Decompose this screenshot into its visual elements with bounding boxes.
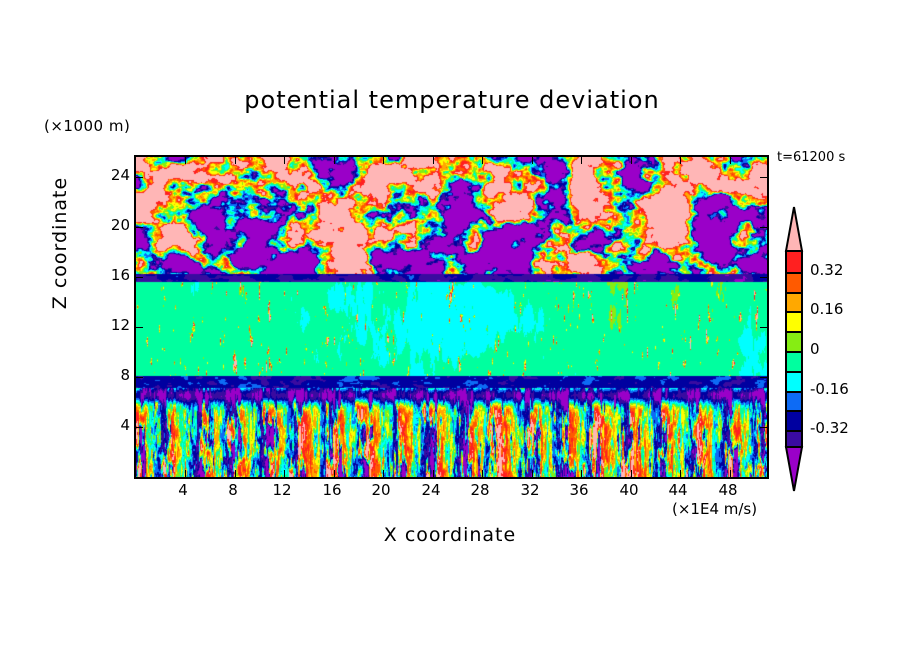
heatmap-plot-area xyxy=(134,155,769,479)
y-tick-label: 8 xyxy=(120,366,130,384)
x-tick-mark xyxy=(235,470,236,477)
x-tick-labels: 4812162024283236404448 xyxy=(134,481,765,501)
colorbar xyxy=(782,206,806,492)
colorbar-tick-label: 0 xyxy=(810,340,820,358)
x-tick-mark xyxy=(581,470,582,477)
x-tick-label: 20 xyxy=(371,481,390,499)
colorbar-tick-label: -0.32 xyxy=(810,419,849,437)
x-tick-mark xyxy=(334,470,335,477)
colorbar-segment xyxy=(787,371,801,391)
x-tick-mark xyxy=(433,157,434,164)
x-tick-label: 32 xyxy=(520,481,539,499)
y-tick-mark xyxy=(760,427,767,428)
x-tick-mark xyxy=(482,470,483,477)
colorbar-segment xyxy=(787,391,801,411)
x-tick-mark xyxy=(433,470,434,477)
x-tick-label: 28 xyxy=(470,481,489,499)
y-tick-label: 20 xyxy=(111,216,130,234)
x-tick-label: 48 xyxy=(718,481,737,499)
x-tick-mark xyxy=(284,470,285,477)
x-tick-label: 8 xyxy=(228,481,238,499)
x-tick-mark xyxy=(284,157,285,164)
x-axis-label: X coordinate xyxy=(134,524,766,546)
y-tick-label: 16 xyxy=(111,266,130,284)
colorbar-segment xyxy=(787,410,801,430)
heatmap-canvas xyxy=(136,157,767,477)
x-tick-label: 40 xyxy=(619,481,638,499)
colorbar-tick-label: -0.16 xyxy=(810,380,849,398)
y-tick-mark xyxy=(136,177,143,178)
y-tick-mark xyxy=(136,277,143,278)
x-tick-mark xyxy=(185,157,186,164)
y-tick-mark xyxy=(760,327,767,328)
x-tick-mark xyxy=(581,157,582,164)
colorbar-unit-label: (×1E4 m/s) xyxy=(672,500,757,518)
x-tick-mark xyxy=(185,470,186,477)
x-tick-mark xyxy=(532,470,533,477)
y-tick-mark xyxy=(136,327,143,328)
x-tick-mark xyxy=(482,157,483,164)
colorbar-segment xyxy=(787,331,801,351)
colorbar-tick-label: 0.16 xyxy=(810,300,843,318)
y-tick-mark xyxy=(760,177,767,178)
x-tick-mark xyxy=(631,470,632,477)
colorbar-over-arrow-icon xyxy=(785,206,803,252)
x-tick-mark xyxy=(730,157,731,164)
colorbar-segment xyxy=(787,252,801,272)
y-tick-label: 12 xyxy=(111,316,130,334)
colorbar-segment xyxy=(787,311,801,331)
x-tick-label: 44 xyxy=(668,481,687,499)
x-tick-label: 16 xyxy=(322,481,341,499)
x-tick-mark xyxy=(680,157,681,164)
colorbar-segments xyxy=(785,250,803,448)
y-tick-mark xyxy=(136,427,143,428)
chart-title: potential temperature deviation xyxy=(0,86,904,114)
x-tick-label: 36 xyxy=(569,481,588,499)
x-tick-mark xyxy=(631,157,632,164)
y-axis-label: Z coordinate xyxy=(49,143,71,343)
y-tick-label: 4 xyxy=(120,416,130,434)
colorbar-segment xyxy=(787,351,801,371)
y-tick-mark xyxy=(760,377,767,378)
x-tick-label: 24 xyxy=(421,481,440,499)
y-axis-unit-label: (×1000 m) xyxy=(44,117,130,135)
y-tick-mark xyxy=(136,227,143,228)
colorbar-tick-label: 0.32 xyxy=(810,261,843,279)
x-tick-label: 4 xyxy=(178,481,188,499)
x-tick-mark xyxy=(235,157,236,164)
x-tick-mark xyxy=(383,157,384,164)
y-tick-mark xyxy=(760,227,767,228)
y-tick-label: 24 xyxy=(111,166,130,184)
colorbar-tick-labels: 0.320.160-0.16-0.32 xyxy=(810,206,890,492)
y-tick-labels: 4812162024 xyxy=(96,155,130,475)
x-tick-mark xyxy=(383,470,384,477)
colorbar-segment xyxy=(787,292,801,312)
x-tick-mark xyxy=(532,157,533,164)
colorbar-segment xyxy=(787,272,801,292)
x-tick-mark xyxy=(680,470,681,477)
y-tick-mark xyxy=(136,377,143,378)
x-tick-mark xyxy=(334,157,335,164)
y-tick-mark xyxy=(760,277,767,278)
colorbar-under-arrow-icon xyxy=(785,446,803,492)
x-tick-mark xyxy=(730,470,731,477)
time-annotation: t=61200 s xyxy=(777,150,845,165)
x-tick-label: 12 xyxy=(272,481,291,499)
chart-figure: potential temperature deviation (×1000 m… xyxy=(0,0,904,654)
